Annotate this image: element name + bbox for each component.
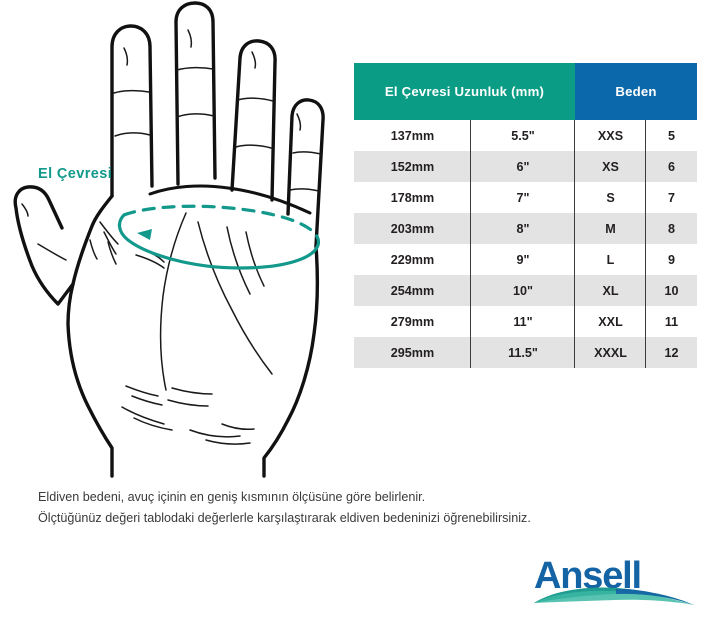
cell-inch: 10" [471, 275, 575, 306]
cell-mm: 279mm [354, 306, 471, 337]
table-row: 279mm 11" XXL 11 [354, 306, 697, 337]
table-row: 229mm 9" L 9 [354, 244, 697, 275]
cell-number: 6 [646, 151, 697, 182]
cell-number: 11 [646, 306, 697, 337]
cell-mm: 152mm [354, 151, 471, 182]
table-row: 178mm 7" S 7 [354, 182, 697, 213]
cell-number: 8 [646, 213, 697, 244]
table-row: 152mm 6" XS 6 [354, 151, 697, 182]
cell-size: XL [575, 275, 646, 306]
cell-inch: 11" [471, 306, 575, 337]
cell-mm: 178mm [354, 182, 471, 213]
header-size: Beden [575, 63, 697, 120]
hand-measurement-illustration: El Çevresi [0, 0, 352, 478]
measure-loop-arrow [137, 229, 152, 240]
instruction-line-1: Eldiven bedeni, avuç içinin en geniş kıs… [38, 487, 678, 508]
cell-inch: 6" [471, 151, 575, 182]
glove-size-table: El Çevresi Uzunluk (mm) Beden 137mm 5.5"… [354, 63, 697, 368]
cell-inch: 8" [471, 213, 575, 244]
cell-size: L [575, 244, 646, 275]
measurement-instructions: Eldiven bedeni, avuç içinin en geniş kıs… [38, 487, 678, 529]
table-row: 295mm 11.5" XXXL 12 [354, 337, 697, 368]
cell-inch: 11.5" [471, 337, 575, 368]
cell-number: 12 [646, 337, 697, 368]
cell-mm: 137mm [354, 120, 471, 151]
cell-size: S [575, 182, 646, 213]
cell-size: XS [575, 151, 646, 182]
header-hand-circumference: El Çevresi Uzunluk (mm) [354, 63, 575, 120]
cell-mm: 229mm [354, 244, 471, 275]
cell-mm: 295mm [354, 337, 471, 368]
cell-number: 5 [646, 120, 697, 151]
hand-circumference-label: El Çevresi [38, 166, 112, 182]
cell-number: 10 [646, 275, 697, 306]
table-row: 254mm 10" XL 10 [354, 275, 697, 306]
cell-number: 7 [646, 182, 697, 213]
table-row: 137mm 5.5" XXS 5 [354, 120, 697, 151]
ansell-logo: Ansell [534, 556, 694, 608]
cell-size: XXXL [575, 337, 646, 368]
table-row: 203mm 8" M 8 [354, 213, 697, 244]
cell-size: XXS [575, 120, 646, 151]
cell-number: 9 [646, 244, 697, 275]
ansell-swoosh-icon [532, 583, 696, 609]
table-header-row: El Çevresi Uzunluk (mm) Beden [354, 63, 697, 120]
cell-mm: 254mm [354, 275, 471, 306]
cell-inch: 9" [471, 244, 575, 275]
instruction-line-2: Ölçtüğünüz değeri tablodaki değerlerle k… [38, 508, 678, 529]
cell-size: M [575, 213, 646, 244]
cell-mm: 203mm [354, 213, 471, 244]
cell-size: XXL [575, 306, 646, 337]
cell-inch: 5.5" [471, 120, 575, 151]
cell-inch: 7" [471, 182, 575, 213]
